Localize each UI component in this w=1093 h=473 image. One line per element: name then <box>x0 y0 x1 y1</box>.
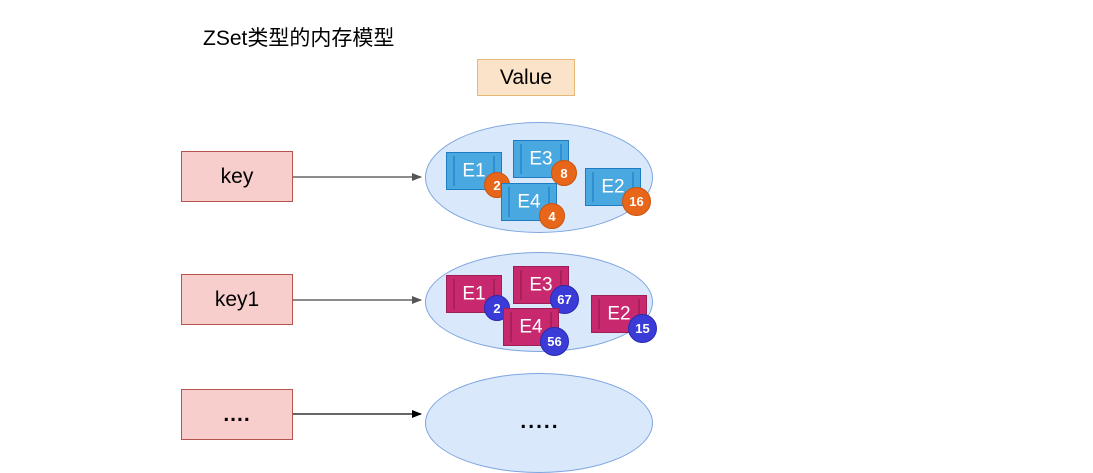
value-ellipse-2: ..... <box>425 373 653 473</box>
value-ellipse-1: E1 2 E3 67 E4 56 E2 15 <box>425 252 653 352</box>
score-badge: 56 <box>540 327 569 356</box>
element-card-e4[interactable]: E4 56 <box>503 308 559 346</box>
key-label-1: key1 <box>215 288 259 312</box>
element-card-e1[interactable]: E1 2 <box>446 152 502 190</box>
value-legend-box: Value <box>477 59 575 96</box>
value-ellipse-0: E1 2 E3 8 E4 4 E2 16 <box>425 122 653 233</box>
score-badge: 16 <box>622 187 651 216</box>
key-box-0[interactable]: key <box>181 151 293 202</box>
page-title: ZSet类型的内存模型 <box>203 26 394 52</box>
element-card-e3[interactable]: E3 8 <box>513 140 569 178</box>
score-badge: 4 <box>539 203 565 229</box>
diagram-canvas: ZSet类型的内存模型 Value key E1 2 <box>0 0 1093 471</box>
score-badge: 15 <box>628 314 657 343</box>
value-legend-label: Value <box>500 66 552 90</box>
element-card-e2[interactable]: E2 16 <box>585 168 641 206</box>
key-label-0: key <box>221 165 254 189</box>
element-card-e3[interactable]: E3 67 <box>513 266 569 304</box>
element-card-e2[interactable]: E2 15 <box>591 295 647 333</box>
key-box-1[interactable]: key1 <box>181 274 293 325</box>
element-card-e1[interactable]: E1 2 <box>446 275 502 313</box>
ellipse-placeholder-text: ..... <box>426 410 654 434</box>
element-card-e4[interactable]: E4 4 <box>501 183 557 221</box>
key-label-2: .... <box>223 403 250 427</box>
key-box-2[interactable]: .... <box>181 389 293 440</box>
